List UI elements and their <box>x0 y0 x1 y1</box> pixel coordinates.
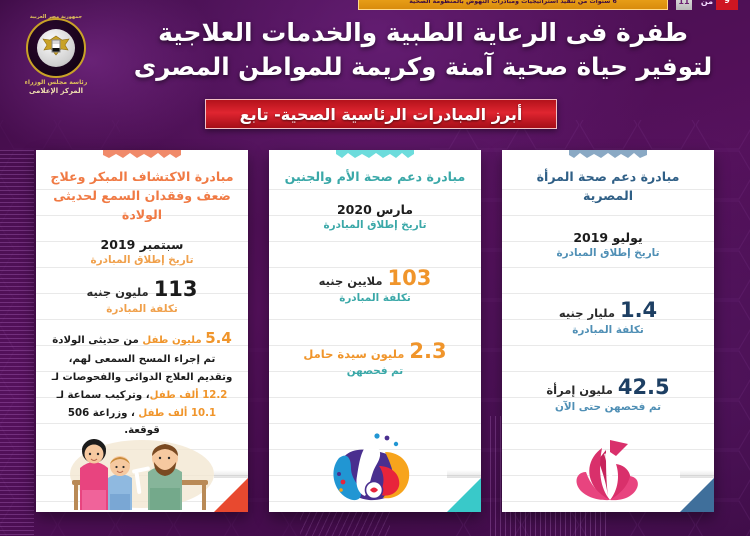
subtitle-text: أبرز المبادرات الرئاسية الصحية- تابع <box>240 105 523 124</box>
emblem-cabinet-line: رئاسة مجلس الوزراء <box>25 80 88 87</box>
headline-line-2: لتوفير حياة صحية آمنة وكريمة للمواطن الم… <box>100 50 746 83</box>
emblem-band: رئاسة مجلس الوزراء المركز الإعلامى <box>18 78 94 98</box>
screened-value: 2.3 <box>409 340 446 363</box>
infographic-poster: 6 سنوات من تنفيذ استراتيجيات ومبادرات ال… <box>0 0 750 536</box>
launch-date-block: مارس 2020 تاريخ إطلاق المبادرة <box>283 202 467 231</box>
screened-block: 2.3 مليون سيدة حامل تم فحصهن <box>283 340 467 377</box>
launch-date-block: سبتمبر 2019 تاريخ إطلاق المبادرة <box>50 237 234 266</box>
screened-unit: مليون إمرأة <box>546 383 612 397</box>
screened-line: 2.3 مليون سيدة حامل <box>283 340 467 363</box>
headline-block: طفرة فى الرعاية الطبية والخدمات العلاجية… <box>100 16 746 83</box>
card-body: مبادرة دعم صحة الأم والجنين مارس 2020 تا… <box>269 150 481 377</box>
cost-block: 1.4 مليار جنيه تكلفة المبادرة <box>516 299 700 336</box>
launch-date-label: تاريخ إطلاق المبادرة <box>516 247 700 259</box>
eagle-icon <box>37 29 75 67</box>
detail-highlight: 10.1 ألف طفل <box>138 408 216 419</box>
launch-date-block: يوليو 2019 تاريخ إطلاق المبادرة <box>516 230 700 259</box>
headline-line-1: طفرة فى الرعاية الطبية والخدمات العلاجية <box>100 16 746 50</box>
detail-highlight: مليون طفل <box>139 335 205 346</box>
card-title: مبادرة دعم صحة المرأة المصرية <box>516 168 700 206</box>
screened-unit: مليون سيدة حامل <box>303 347 404 361</box>
launch-date-label: تاريخ إطلاق المبادرة <box>283 219 467 231</box>
emblem-disc <box>26 18 86 78</box>
card-body: مبادرة الاكتشاف المبكر وعلاج ضعف وفقدان … <box>36 150 248 440</box>
cost-line: 1.4 مليار جنيه <box>516 299 700 322</box>
cost-unit: ملايين جنيه <box>319 274 383 288</box>
cost-unit: مليون جنيه <box>86 285 148 299</box>
cost-line: 113 مليون جنيه <box>50 278 234 301</box>
emblem-media-center-line: المركز الإعلامى <box>29 88 83 96</box>
cost-label: تكلفة المبادرة <box>516 324 700 336</box>
launch-date-value: يوليو 2019 <box>516 230 700 245</box>
launch-date-value: سبتمبر 2019 <box>50 237 234 252</box>
screened-label: تم فحصهن <box>283 365 467 377</box>
detail-text: ، وتركيب سماعة لـ <box>57 390 150 401</box>
screened-value: 42.5 <box>618 376 670 399</box>
cost-unit: مليار جنيه <box>559 306 615 320</box>
launch-date-value: مارس 2020 <box>283 202 467 217</box>
card-title: مبادرة الاكتشاف المبكر وعلاج ضعف وفقدان … <box>50 168 234 225</box>
screened-label: تم فحصهن حتى الآن <box>516 401 700 413</box>
initiative-cards-row: مبادرة الاكتشاف المبكر وعلاج ضعف وفقدان … <box>0 150 750 536</box>
cost-line: 103 ملايين جنيه <box>283 267 467 290</box>
cost-value: 103 <box>388 267 432 290</box>
cost-value: 1.4 <box>620 299 657 322</box>
page-number: 11 <box>676 0 692 10</box>
detail-highlight-number: 5.4 <box>205 329 232 347</box>
pink-flower-logo <box>502 416 714 512</box>
top-ribbon-strip: 6 سنوات من تنفيذ استراتيجيات ومبادرات ال… <box>0 0 750 15</box>
egypt-flag-shield-icon <box>52 40 61 53</box>
government-emblem: جمهورية مصر العربية رئاسة مجلس الوزراء ا… <box>12 12 100 104</box>
detail-highlight: 12.2 ألف طفل <box>150 390 228 401</box>
card-detail-paragraph: 5.4 مليون طفل من حديثى الولادة تم إجراء … <box>50 325 234 440</box>
ribbon-title: 6 سنوات من تنفيذ استراتيجيات ومبادرات ال… <box>358 0 668 10</box>
screened-block: 42.5 مليون إمرأة تم فحصهن حتى الآن <box>516 376 700 413</box>
mother-child-logo <box>269 416 481 512</box>
page-separator: من <box>700 0 714 10</box>
card-hearing-screening[interactable]: مبادرة الاكتشاف المبكر وعلاج ضعف وفقدان … <box>36 150 248 512</box>
cost-value: 113 <box>154 278 198 301</box>
screened-line: 42.5 مليون إمرأة <box>516 376 700 399</box>
card-mother-fetus-health[interactable]: مبادرة دعم صحة الأم والجنين مارس 2020 تا… <box>269 150 481 512</box>
cost-label: تكلفة المبادرة <box>50 303 234 315</box>
cost-label: تكلفة المبادرة <box>283 292 467 304</box>
cost-block: 113 مليون جنيه تكلفة المبادرة <box>50 278 234 315</box>
card-egyptian-women-health[interactable]: مبادرة دعم صحة المرأة المصرية يوليو 2019… <box>502 150 714 512</box>
subtitle-red-banner: أبرز المبادرات الرئاسية الصحية- تابع <box>205 99 557 129</box>
page-total: 9 <box>716 0 738 10</box>
card-title: مبادرة دعم صحة الأم والجنين <box>283 168 467 190</box>
launch-date-label: تاريخ إطلاق المبادرة <box>50 254 234 266</box>
card-body: مبادرة دعم صحة المرأة المصرية يوليو 2019… <box>502 150 714 413</box>
cost-block: 103 ملايين جنيه تكلفة المبادرة <box>283 267 467 304</box>
